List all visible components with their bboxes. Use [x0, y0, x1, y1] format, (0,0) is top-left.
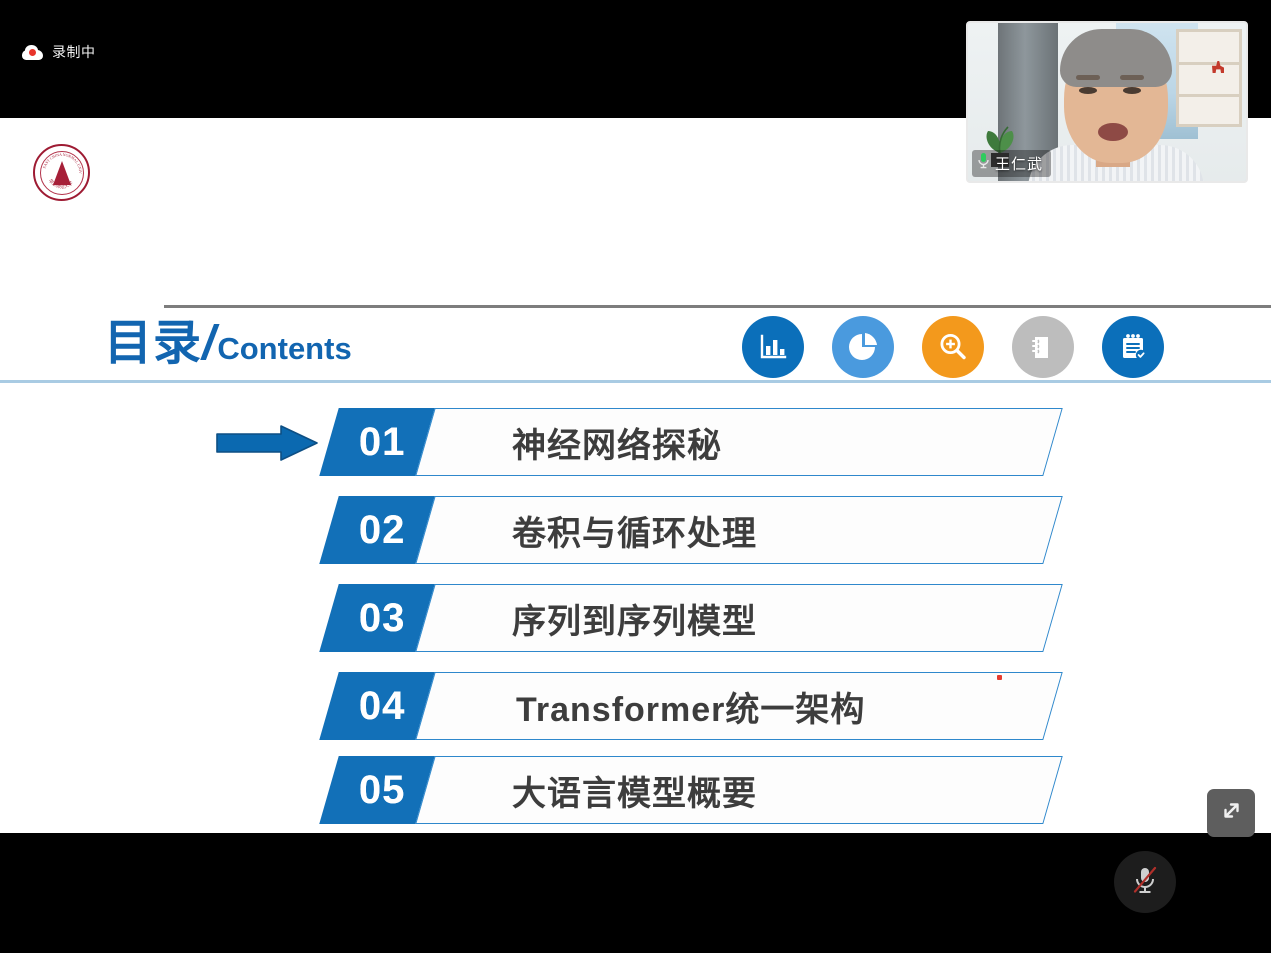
toc-number-04: 04	[359, 684, 406, 729]
right-arrow-pointer	[215, 424, 319, 462]
toc-label-04: Transformer统一架构	[516, 672, 865, 740]
participant-eyebrow-left	[1076, 75, 1100, 80]
cloud-record-icon	[22, 45, 43, 60]
toc-number-01: 01	[359, 420, 406, 465]
toc-item-03[interactable]: 03 序列到序列模型	[329, 584, 1059, 652]
toc-number-05: 05	[359, 768, 406, 813]
toc-label-03: 序列到序列模型	[512, 584, 757, 652]
exit-fullscreen-button[interactable]	[1207, 789, 1255, 837]
meeting-screen-share-view: 录制中 EAST CHINA NORMAL UNIVERSITY 华东师范大学	[0, 0, 1271, 953]
toc-item-05[interactable]: 05 大语言模型概要	[329, 756, 1059, 824]
contents-list: 01 神经网络探秘 02 卷积与循环处理 03 序列到序列模型	[0, 118, 1271, 833]
toc-item-02[interactable]: 02 卷积与循环处理	[329, 496, 1059, 564]
presenter-cursor-dot	[997, 675, 1002, 680]
participant-eyebrow-right	[1120, 75, 1144, 80]
toc-item-04[interactable]: 04 Transformer统一架构	[329, 672, 1059, 740]
recording-indicator: 录制中	[22, 42, 96, 62]
toc-number-02: 02	[359, 508, 406, 553]
microphone-on-icon	[977, 152, 990, 174]
recording-label: 录制中	[52, 42, 96, 62]
toc-number-03: 03	[359, 596, 406, 641]
participant-eye-left	[1079, 87, 1097, 94]
toc-item-01[interactable]: 01 神经网络探秘	[329, 408, 1059, 476]
microphone-toggle-button[interactable]	[1114, 851, 1176, 913]
participant-name-badge: 王仁武	[972, 150, 1051, 177]
exit-fullscreen-icon	[1218, 798, 1244, 829]
participant-mouth	[1098, 123, 1128, 141]
toc-label-01: 神经网络探秘	[512, 408, 722, 476]
participant-video-tile[interactable]: 王仁武	[966, 21, 1248, 183]
toc-label-02: 卷积与循环处理	[512, 496, 757, 564]
participant-name: 王仁武	[995, 153, 1043, 174]
participant-eye-right	[1123, 87, 1141, 94]
presentation-slide[interactable]: EAST CHINA NORMAL UNIVERSITY 华东师范大学 目录 /…	[0, 118, 1271, 833]
background-shelf	[1176, 29, 1242, 127]
microphone-muted-icon	[1130, 864, 1160, 901]
toc-label-05: 大语言模型概要	[512, 756, 757, 824]
